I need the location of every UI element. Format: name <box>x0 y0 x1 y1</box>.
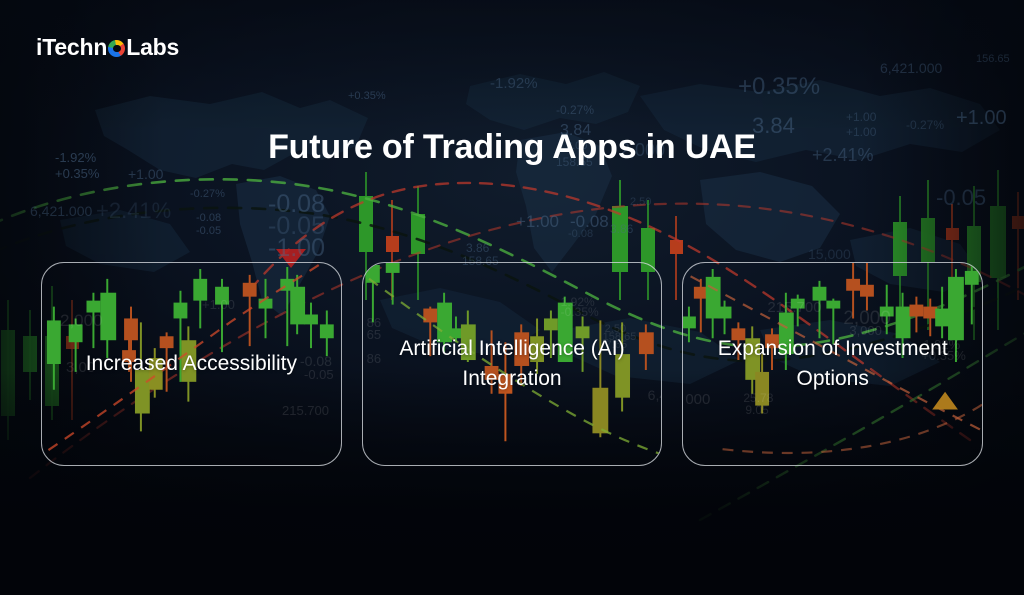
feature-card-1[interactable]: 2,0003,00-0.08-0.05215.700+1.00 Increase… <box>41 262 342 466</box>
background-ticker-value: -1.00 <box>268 234 325 263</box>
background-ticker-value: 156.65 <box>976 53 1010 65</box>
background-ticker-value: -0.05 <box>936 185 986 211</box>
background-ticker-value: +0.35% <box>738 73 820 101</box>
brand-logo[interactable]: iTechn Labs <box>36 34 179 61</box>
card-overlay-value: 9.05 <box>745 403 768 417</box>
background-ticker-value: +0.35% <box>55 166 99 181</box>
background-ticker-value: +1.00 <box>516 212 559 232</box>
background-ticker-value: 3.86 <box>466 241 489 255</box>
background-ticker-value: 6,421.000 <box>30 203 92 219</box>
background-ticker-value: +1.00 <box>956 107 1007 130</box>
background-ticker-value: +1.00 <box>846 110 876 124</box>
feature-card-label-2: Artificial Intelligence (AI) Integration <box>363 334 662 394</box>
background-ticker-value: +0.35% <box>348 90 386 102</box>
feature-card-label-1: Increased Accessibility <box>70 349 313 379</box>
background-ticker-value: 15,000 <box>808 246 851 262</box>
background-ticker-value: -0.27% <box>190 188 225 200</box>
background-ticker-value: -0.27% <box>556 103 594 117</box>
card-overlay-value: -0.35% <box>561 305 599 319</box>
feature-card-list: 2,0003,00-0.08-0.05215.700+1.00 Increase… <box>41 262 983 466</box>
card-overlay-value: +1.00 <box>202 297 235 312</box>
multicolor-ring-icon <box>108 40 125 57</box>
background-ticker-value: -1.92% <box>490 75 538 92</box>
background-ticker-value: +2.41% <box>96 198 171 224</box>
brand-name-suffix: Labs <box>126 34 179 61</box>
feature-card-2[interactable]: 8665861.92%-0.35%2.50158.657.656,421 Art… <box>362 262 663 466</box>
card-overlay-value: 215.700 <box>282 403 329 418</box>
background-ticker-value: 6,421.000 <box>880 60 942 76</box>
feature-card-label-3: Expansion of Investment Options <box>683 334 982 394</box>
background-ticker-value: -0.08 <box>196 212 221 224</box>
card-overlay-value: 215.700 <box>767 299 821 316</box>
background-ticker-value: -0.08 <box>568 228 593 240</box>
page-title: Future of Trading Apps in UAE <box>0 128 1024 167</box>
feature-card-3[interactable]: 215.7002,0003,0001.92%+0.35%00025.789.05… <box>682 262 983 466</box>
background-ticker-value: 2.50 <box>630 196 651 208</box>
background-ticker-value: -0.05 <box>196 225 221 237</box>
background-ticker-value: +1.00 <box>128 166 163 182</box>
background-ticker-value: 3.86 <box>610 222 633 236</box>
brand-name-prefix: iTechn <box>36 34 107 61</box>
infographic-canvas: -1.92%+0.35%+1.006,421.000+2.41%+0.35%-1… <box>0 0 1024 595</box>
card-overlay-value: 2,000 <box>60 311 103 331</box>
